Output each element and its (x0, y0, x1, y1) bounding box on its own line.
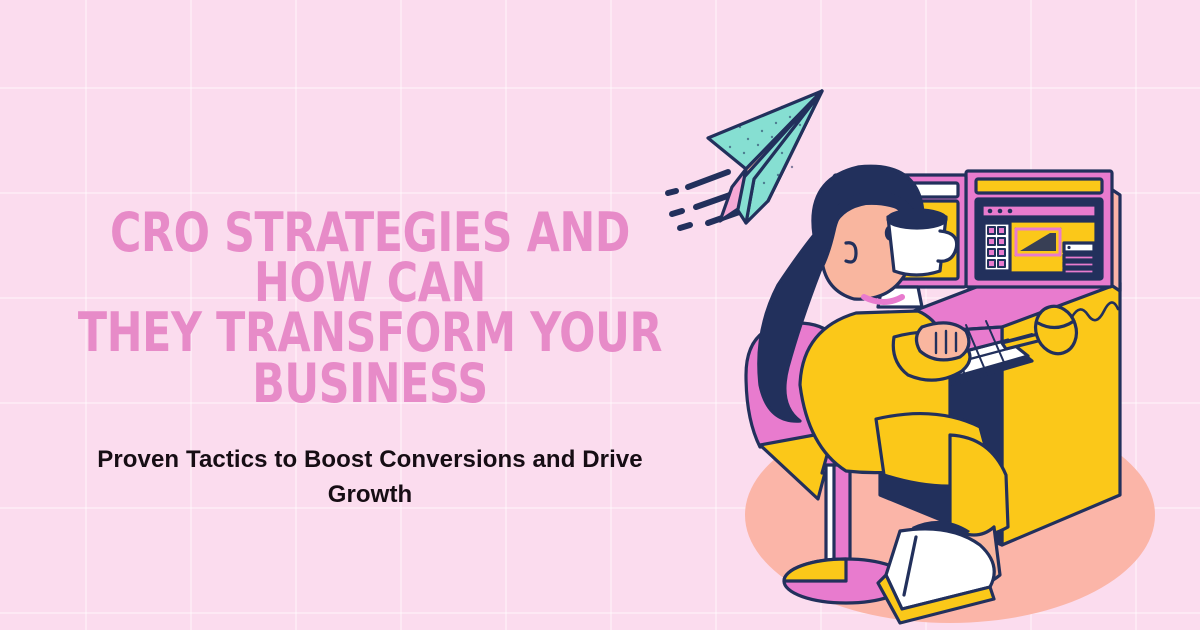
page-subtitle: Proven Tactics to Boost Conversions and … (90, 443, 650, 513)
text-block: CRO STRATEGIES AND HOW CAN THEY TRANSFOR… (30, 208, 710, 512)
banner-root: CRO STRATEGIES AND HOW CAN THEY TRANSFOR… (0, 0, 1200, 630)
monitor-right[interactable] (966, 171, 1120, 291)
page-title: CRO STRATEGIES AND HOW CAN THEY TRANSFOR… (71, 208, 669, 409)
hero-illustration (650, 75, 1200, 630)
paper-plane-icon (708, 91, 822, 223)
